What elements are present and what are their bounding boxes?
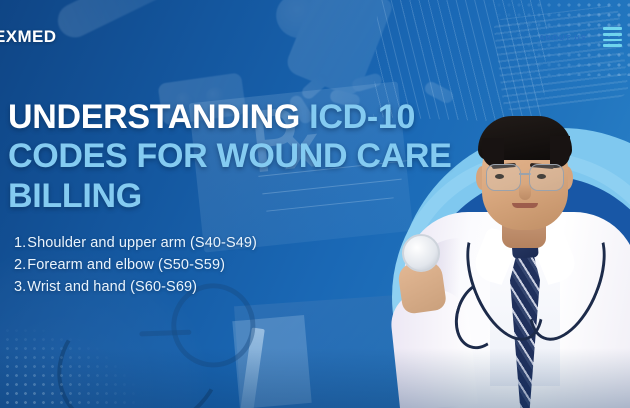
list-item-label: Shoulder and upper arm (S40-S49) xyxy=(27,235,257,251)
capsule-icon xyxy=(351,72,383,93)
list-item-number: 3. xyxy=(14,279,26,295)
clipboard-paper xyxy=(232,315,311,408)
list-item: 2.Forearm and elbow (S50-S59) xyxy=(14,254,470,276)
nav-link-about-us[interactable]: ABOUT US xyxy=(539,33,587,42)
hero-banner: ℞ EXMED ABOUT US xyxy=(0,0,630,408)
hamburger-bar xyxy=(603,44,622,47)
list-item-label: Wrist and hand (S60-S69) xyxy=(27,279,197,295)
lens-left xyxy=(486,164,521,191)
brand-logo[interactable]: EXMED xyxy=(0,27,56,47)
capsule-icon xyxy=(300,72,331,102)
hamburger-bar xyxy=(603,33,622,36)
list-item-label: Forearm and elbow (S50-S59) xyxy=(27,257,225,273)
halftone-dots-bottom-left xyxy=(0,326,144,408)
lens-right xyxy=(529,164,564,191)
list-item: 3.Wrist and hand (S60-S69) xyxy=(14,276,470,298)
pen-icon xyxy=(240,328,265,408)
stethoscope-stem-decor xyxy=(139,330,191,337)
hamburger-menu-icon[interactable] xyxy=(603,27,622,46)
mouth xyxy=(512,203,538,208)
nav-right-group: ABOUT US xyxy=(539,27,630,46)
list-item: 1.Shoulder and upper arm (S40-S49) xyxy=(14,232,470,254)
hamburger-bar xyxy=(603,27,622,30)
list-item-number: 1. xyxy=(14,235,26,251)
top-navigation-bar: EXMED ABOUT US xyxy=(0,0,630,74)
hamburger-bar xyxy=(603,39,622,42)
icd-code-list: 1.Shoulder and upper arm (S40-S49) 2.For… xyxy=(0,232,470,298)
headline-white-part: UNDERSTANDING xyxy=(8,98,309,136)
hair xyxy=(478,116,572,160)
nose xyxy=(519,184,531,200)
list-item-number: 2. xyxy=(14,257,26,273)
hero-content: UNDERSTANDING ICD-10 CODES FOR WOUND CAR… xyxy=(0,98,470,298)
page-title: UNDERSTANDING ICD-10 CODES FOR WOUND CAR… xyxy=(0,98,470,216)
